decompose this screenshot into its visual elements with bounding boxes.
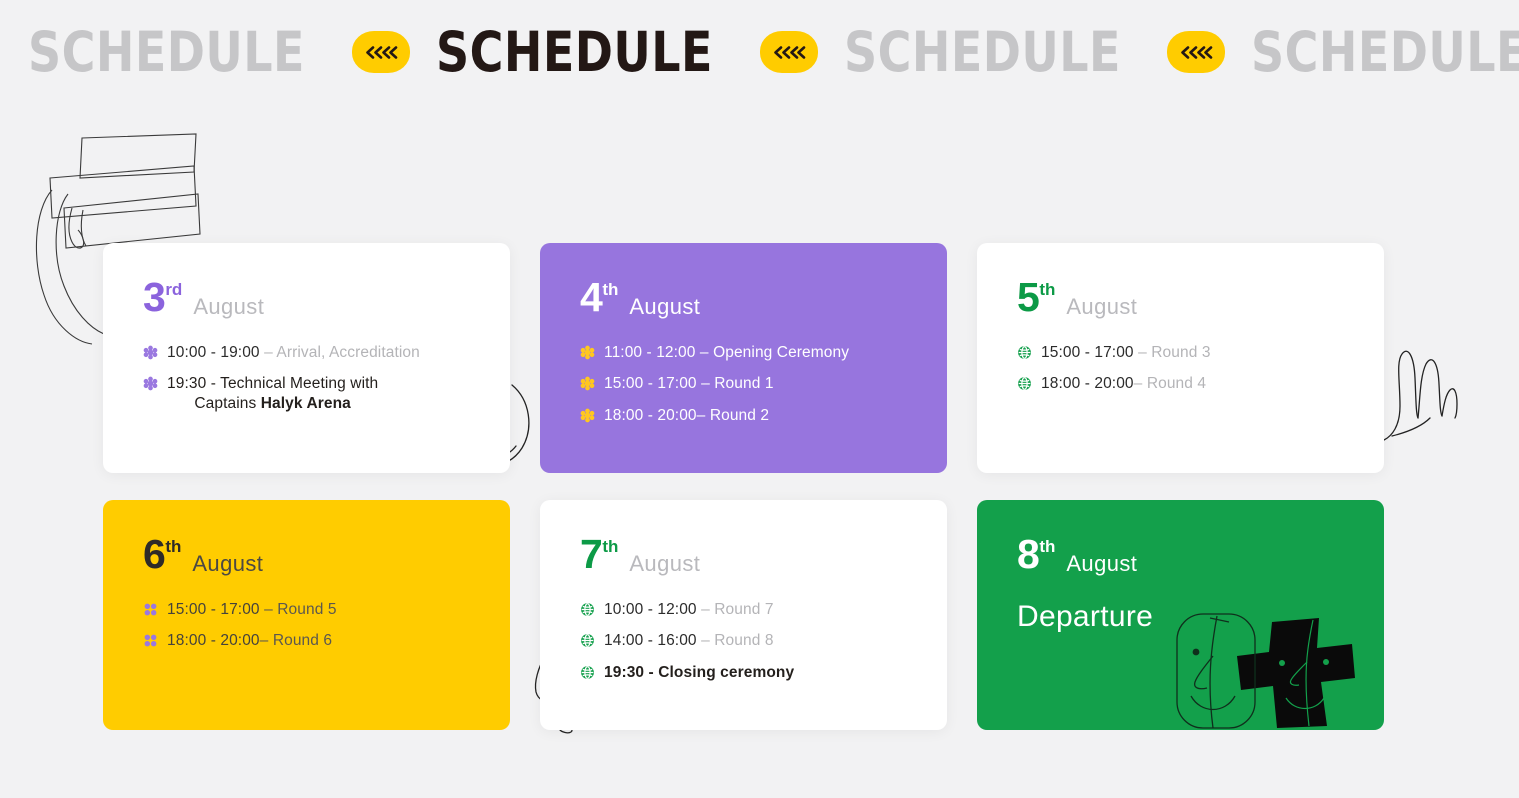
event-separator: – bbox=[701, 375, 710, 392]
event-row: 18:00 - 20:00– Round 2 bbox=[580, 406, 913, 426]
event-separator: – bbox=[700, 344, 709, 361]
event-text: 14:00 - 16:00 – Round 8 bbox=[604, 631, 774, 651]
event-text: 19:30 - Technical Meeting withCaptains H… bbox=[167, 374, 378, 413]
event-text: 10:00 - 19:00 – Arrival, Accreditation bbox=[167, 343, 420, 363]
marquee-badge-2 bbox=[760, 31, 818, 73]
date-ordinal: th bbox=[602, 281, 618, 298]
event-row: 10:00 - 19:00 – Arrival, Accreditation bbox=[143, 343, 476, 363]
schedule-card-grid: 3 rd August 10:00 - 19:00 – Arrival, Acc… bbox=[103, 243, 1384, 730]
card-aug-3[interactable]: 3 rd August 10:00 - 19:00 – Arrival, Acc… bbox=[103, 243, 510, 473]
card-aug-5[interactable]: 5 th August 15:00 - 17:00 – Round 3 18:0… bbox=[977, 243, 1384, 473]
card-event-list: 10:00 - 19:00 – Arrival, Accreditation 1… bbox=[143, 343, 476, 426]
marquee-badge-3 bbox=[1167, 31, 1225, 73]
event-text: 15:00 - 17:00 – Round 5 bbox=[167, 600, 337, 620]
m-squiggle-line-art bbox=[1378, 328, 1518, 448]
event-row: 18:00 - 20:00– Round 4 bbox=[1017, 374, 1350, 394]
event-time: 15:00 - 17:00 bbox=[604, 375, 697, 392]
card-date-heading: 5 th August bbox=[1017, 279, 1350, 317]
event-separator: – bbox=[260, 632, 269, 649]
date-ordinal: th bbox=[1039, 281, 1055, 298]
flower-asterisk-icon bbox=[143, 376, 158, 391]
event-text: 15:00 - 17:00 – Round 3 bbox=[1041, 343, 1211, 363]
marquee-word-3: SCHEDULE bbox=[844, 25, 1121, 80]
event-name: Opening Ceremony bbox=[713, 344, 849, 361]
card-event-list: 15:00 - 17:00 – Round 3 18:00 - 20:00– R… bbox=[1017, 343, 1350, 406]
globe-icon bbox=[580, 602, 595, 617]
chevrons-left-icon bbox=[364, 45, 398, 60]
date-month: August bbox=[192, 551, 263, 577]
flower-asterisk-icon bbox=[580, 345, 595, 360]
globe-icon bbox=[1017, 345, 1032, 360]
card-aug-6[interactable]: 6 th August 15:00 - 17:00 – Round 5 18:0… bbox=[103, 500, 510, 730]
card-event-list: 11:00 - 12:00 – Opening Ceremony 15:00 -… bbox=[580, 343, 913, 438]
event-separator: – bbox=[1138, 344, 1147, 361]
event-time: 19:30 - bbox=[167, 375, 216, 392]
event-separator: – bbox=[701, 632, 710, 649]
event-row: 19:30 - Technical Meeting withCaptains H… bbox=[143, 374, 476, 413]
date-month: August bbox=[629, 294, 700, 320]
flower-asterisk-icon bbox=[143, 345, 158, 360]
event-row: 14:00 - 16:00 – Round 8 bbox=[580, 631, 913, 651]
event-text: 19:30 - Closing ceremony bbox=[604, 663, 794, 683]
event-name: Round 8 bbox=[714, 632, 773, 649]
card-date-heading: 8 th August bbox=[1017, 536, 1350, 574]
globe-icon bbox=[1017, 376, 1032, 391]
event-name: Arrival, Accreditation bbox=[276, 344, 419, 361]
event-row: 19:30 - Closing ceremony bbox=[580, 663, 913, 683]
event-time: 18:00 - 20:00 bbox=[167, 632, 260, 649]
card-aug-8[interactable]: 8 th August Departure bbox=[977, 500, 1384, 730]
card-date-heading: 3 rd August bbox=[143, 279, 476, 317]
card-aug-4[interactable]: 4 th August 11:00 - 12:00 – Opening Cere… bbox=[540, 243, 947, 473]
two-abstract-faces-illustration bbox=[1169, 600, 1384, 730]
globe-icon bbox=[580, 665, 595, 680]
event-row: 15:00 - 17:00 – Round 1 bbox=[580, 374, 913, 394]
event-row: 15:00 - 17:00 – Round 3 bbox=[1017, 343, 1350, 363]
event-time: 10:00 - 19:00 bbox=[167, 344, 260, 361]
event-text: 18:00 - 20:00– Round 6 bbox=[167, 631, 332, 651]
event-name: Round 3 bbox=[1151, 344, 1210, 361]
event-separator: – bbox=[1134, 375, 1143, 392]
event-time: 18:00 - 20:00 bbox=[1041, 375, 1134, 392]
event-time: 10:00 - 12:00 bbox=[604, 601, 697, 618]
card-date-heading: 7 th August bbox=[580, 536, 913, 574]
date-month: August bbox=[1066, 551, 1137, 577]
marquee-word-2: SCHEDULE bbox=[436, 25, 713, 80]
date-number: 4 bbox=[580, 279, 602, 317]
date-number: 6 bbox=[143, 536, 165, 574]
card-date-heading: 6 th August bbox=[143, 536, 476, 574]
event-time: 14:00 - 16:00 bbox=[604, 632, 697, 649]
event-row: 18:00 - 20:00– Round 6 bbox=[143, 631, 476, 651]
date-number: 3 bbox=[143, 279, 165, 317]
date-number: 8 bbox=[1017, 536, 1039, 574]
chevrons-left-icon bbox=[772, 45, 806, 60]
event-name: Technical Meeting with bbox=[220, 375, 378, 392]
event-text: 18:00 - 20:00– Round 2 bbox=[604, 406, 769, 426]
marquee-word-1: SCHEDULE bbox=[28, 25, 305, 80]
flower-asterisk-icon bbox=[580, 408, 595, 423]
event-separator: – bbox=[264, 344, 273, 361]
event-text: 10:00 - 12:00 – Round 7 bbox=[604, 600, 774, 620]
event-time: 11:00 - 12:00 bbox=[604, 344, 696, 361]
flower-asterisk-icon bbox=[580, 376, 595, 391]
event-name: Round 2 bbox=[710, 407, 769, 424]
event-text: 11:00 - 12:00 – Opening Ceremony bbox=[604, 343, 849, 363]
date-month: August bbox=[629, 551, 700, 577]
event-text: 18:00 - 20:00– Round 4 bbox=[1041, 374, 1206, 394]
event-row: 15:00 - 17:00 – Round 5 bbox=[143, 600, 476, 620]
event-name: Closing ceremony bbox=[658, 664, 794, 681]
globe-icon bbox=[580, 633, 595, 648]
event-name-line2: Captains bbox=[194, 395, 260, 412]
event-separator: – bbox=[264, 601, 273, 618]
marquee-word-4: SCHEDULE bbox=[1251, 25, 1519, 80]
date-ordinal: th bbox=[165, 538, 181, 555]
event-time: 19:30 - bbox=[604, 664, 654, 681]
date-month: August bbox=[193, 294, 264, 320]
date-number: 5 bbox=[1017, 279, 1039, 317]
event-separator: – bbox=[701, 601, 710, 618]
chevrons-left-icon bbox=[1179, 45, 1213, 60]
event-name: Round 5 bbox=[277, 601, 336, 618]
card-date-heading: 4 th August bbox=[580, 279, 913, 317]
event-name: Round 4 bbox=[1147, 375, 1206, 392]
event-time: 18:00 - 20:00 bbox=[604, 407, 697, 424]
date-number: 7 bbox=[580, 536, 602, 574]
card-event-list: 10:00 - 12:00 – Round 7 14:00 - 16:00 – … bbox=[580, 600, 913, 695]
card-event-list: 15:00 - 17:00 – Round 5 18:00 - 20:00– R… bbox=[143, 600, 476, 663]
event-venue: Halyk Arena bbox=[261, 395, 351, 412]
quad-dot-icon bbox=[143, 633, 158, 648]
date-ordinal: th bbox=[1039, 538, 1055, 555]
date-ordinal: th bbox=[602, 538, 618, 555]
date-month: August bbox=[1066, 294, 1137, 320]
card-aug-7[interactable]: 7 th August 10:00 - 12:00 – Round 7 14:0… bbox=[540, 500, 947, 730]
quad-dot-icon bbox=[143, 602, 158, 617]
event-text: 15:00 - 17:00 – Round 1 bbox=[604, 374, 774, 394]
event-name: Round 7 bbox=[714, 601, 773, 618]
event-name: Round 6 bbox=[273, 632, 332, 649]
event-time: 15:00 - 17:00 bbox=[1041, 344, 1134, 361]
event-row: 10:00 - 12:00 – Round 7 bbox=[580, 600, 913, 620]
schedule-marquee-header: SCHEDULE SCHEDULE bbox=[0, 0, 1519, 104]
event-name: Round 1 bbox=[714, 375, 773, 392]
event-separator: – bbox=[697, 407, 706, 424]
marquee-badge-1 bbox=[352, 31, 410, 73]
date-ordinal: rd bbox=[165, 281, 182, 298]
event-time: 15:00 - 17:00 bbox=[167, 601, 260, 618]
event-row: 11:00 - 12:00 – Opening Ceremony bbox=[580, 343, 913, 363]
